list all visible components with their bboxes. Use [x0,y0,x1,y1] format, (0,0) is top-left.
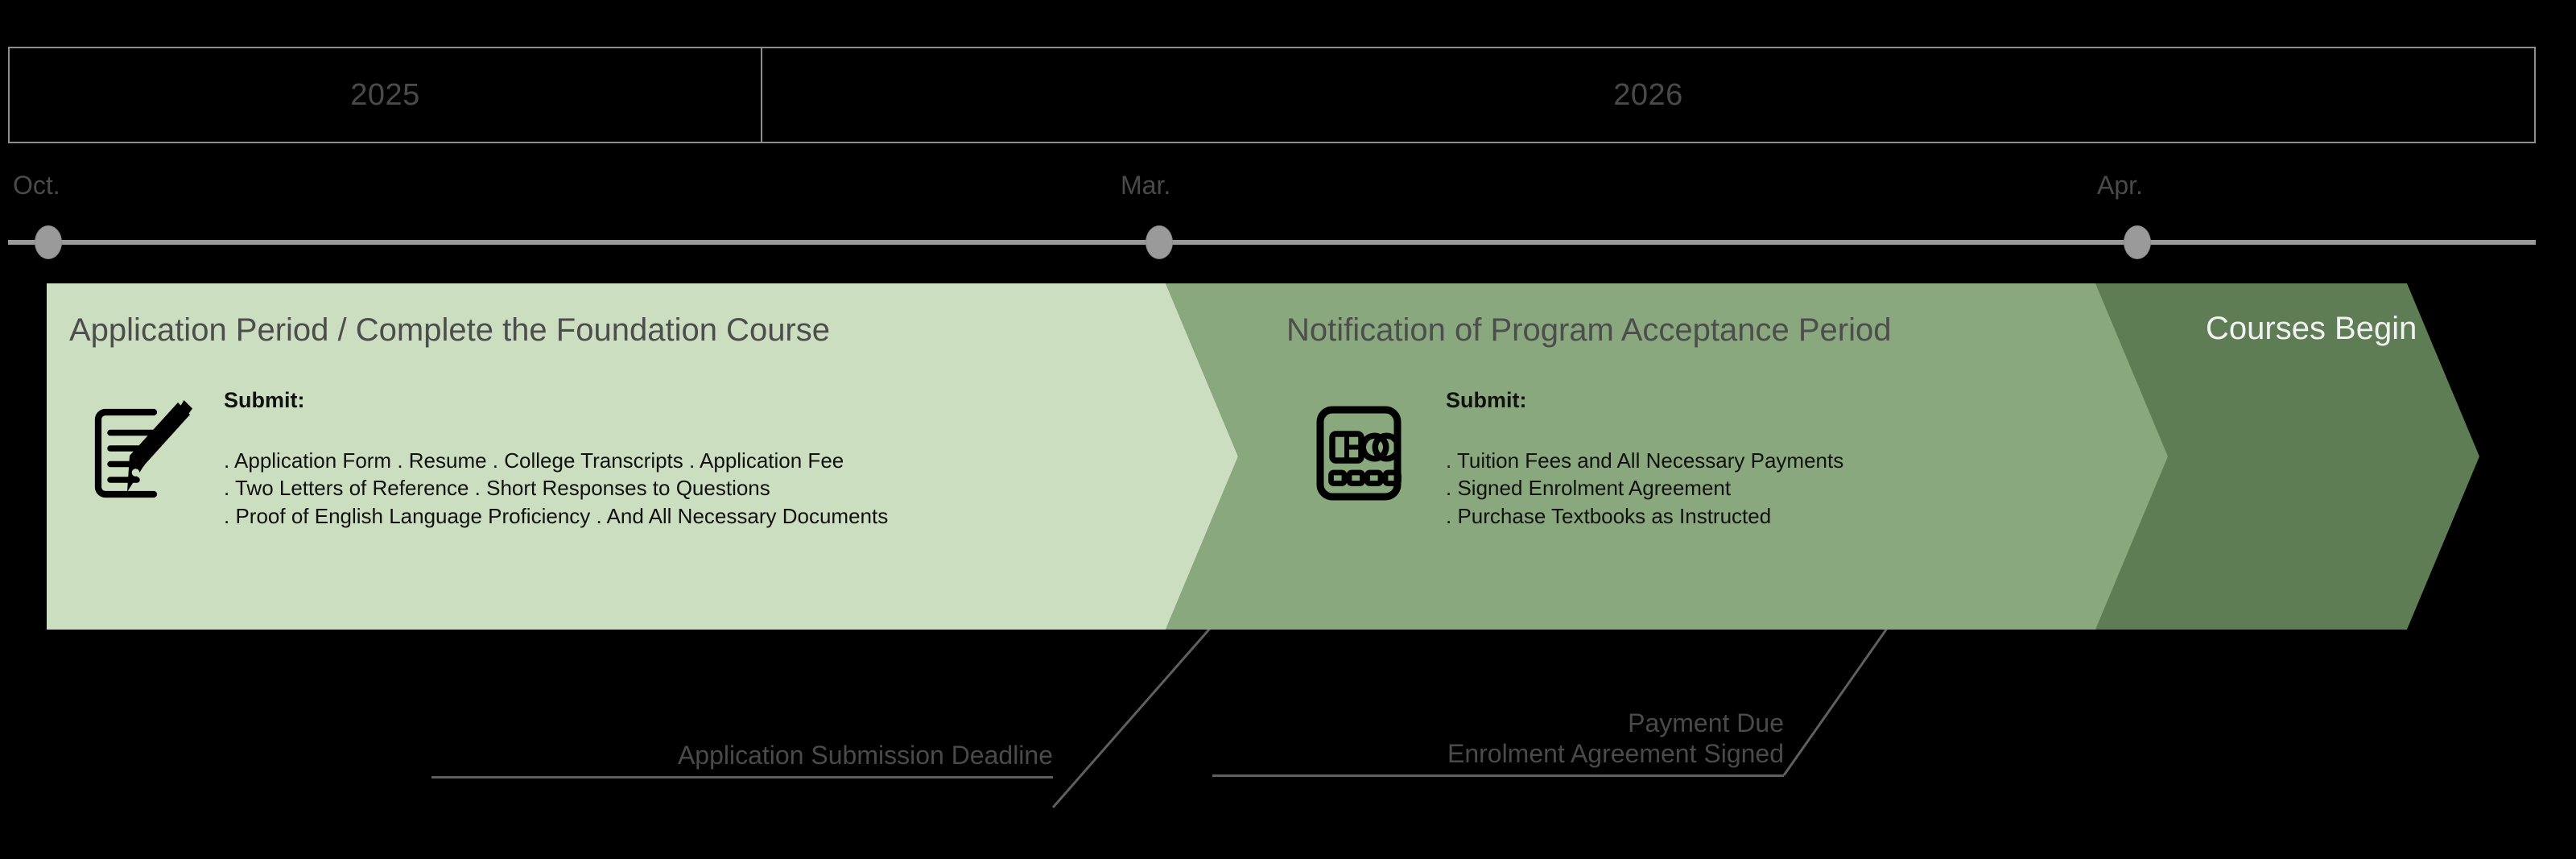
stage-text-application: Submit: . Application Form . Resume . Co… [209,388,888,530]
credit-card-icon [1286,388,1431,514]
submit-label-application: Submit: [224,388,888,413]
stage-body-acceptance: Submit: . Tuition Fees and All Necessary… [1286,388,1843,530]
stage-body-application: Submit: . Application Form . Resume . Co… [64,388,888,530]
annotation-line: Application Submission Deadline [431,741,1053,771]
stage-title-acceptance: Notification of Program Acceptance Perio… [1286,312,1892,349]
annotation-payment-due: Payment Due Enrolment Agreement Signed [1212,708,1784,777]
stage-text-acceptance: Submit: . Tuition Fees and All Necessary… [1431,388,1843,530]
annotation-underline [431,776,1053,778]
bullet-item: . Proof of English Language Proficiency … [224,502,888,530]
bullet-item: . Two Letters of Reference . Short Respo… [224,474,888,502]
annotation-application-deadline: Application Submission Deadline [431,741,1053,778]
annotation-underline [1212,774,1784,777]
stage-chevron-application[interactable]: Application Period / Complete the Founda… [47,283,1238,630]
stage-chevron-band: Application Period / Complete the Founda… [0,283,2576,630]
bullet-item: . Purchase Textbooks as Instructed [1446,502,1843,530]
bullet-item: . Signed Enrolment Agreement [1446,474,1843,502]
stage-title-application: Application Period / Complete the Founda… [69,312,830,349]
document-pen-icon [64,388,209,514]
annotation-line: Enrolment Agreement Signed [1212,739,1784,770]
timeline-infographic: 2025 2026 Oct. Mar. Apr. Application Per… [0,0,2576,859]
stage-title-courses-begin: Courses Begin [2206,311,2417,347]
bullet-item: . Application Form . Resume . College Tr… [224,447,888,474]
bullet-item: . Tuition Fees and All Necessary Payment… [1446,447,1843,474]
stage-chevron-acceptance[interactable]: Notification of Program Acceptance Perio… [1166,283,2168,630]
annotation-line: Payment Due [1212,708,1784,739]
submit-label-acceptance: Submit: [1446,388,1843,413]
